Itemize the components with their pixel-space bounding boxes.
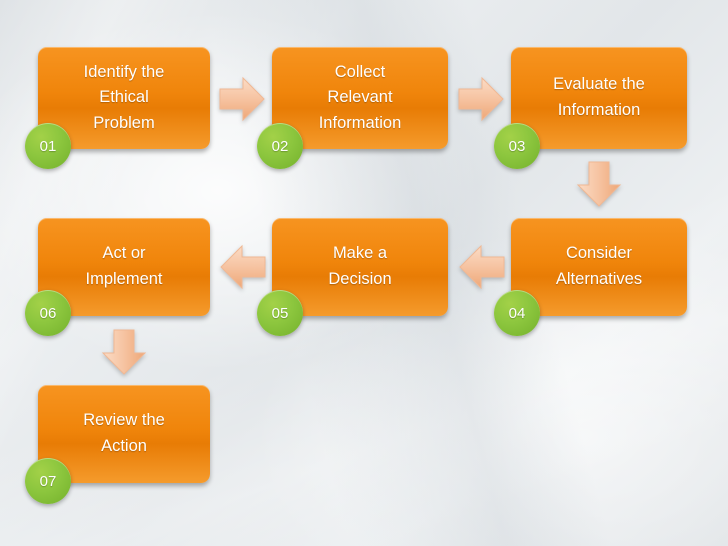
step-badge-02-number: 02 (272, 138, 289, 155)
step-badge-01-number: 01 (40, 138, 57, 155)
arrow-04-to-05 (458, 244, 506, 290)
slide-canvas: Identify the Ethical Problem 01 Collect … (0, 0, 728, 546)
process-step-05-label: Make a Decision (328, 241, 391, 292)
arrow-05-to-06 (219, 244, 267, 290)
arrow-01-to-02 (218, 76, 266, 122)
step-badge-06: 06 (25, 290, 71, 336)
process-step-01-label: Identify the Ethical Problem (84, 60, 165, 137)
step-badge-07: 07 (25, 458, 71, 504)
process-step-04[interactable]: Consider Alternatives (511, 218, 687, 316)
step-badge-04: 04 (494, 290, 540, 336)
step-badge-06-number: 06 (40, 305, 57, 322)
step-badge-05-number: 05 (272, 305, 289, 322)
step-badge-02: 02 (257, 123, 303, 169)
process-step-03-label: Evaluate the Information (553, 72, 645, 123)
process-step-06-label: Act or Implement (85, 241, 162, 292)
process-step-02-label: Collect Relevant Information (319, 60, 402, 137)
step-badge-01: 01 (25, 123, 71, 169)
process-step-03[interactable]: Evaluate the Information (511, 47, 687, 149)
process-step-07-label: Review the Action (83, 408, 165, 459)
step-badge-05: 05 (257, 290, 303, 336)
step-badge-04-number: 04 (509, 305, 526, 322)
step-badge-07-number: 07 (40, 473, 57, 490)
arrow-06-to-07 (101, 328, 147, 376)
process-step-04-label: Consider Alternatives (556, 241, 642, 292)
step-badge-03: 03 (494, 123, 540, 169)
arrow-03-to-04 (576, 160, 622, 208)
arrow-02-to-03 (457, 76, 505, 122)
step-badge-03-number: 03 (509, 138, 526, 155)
